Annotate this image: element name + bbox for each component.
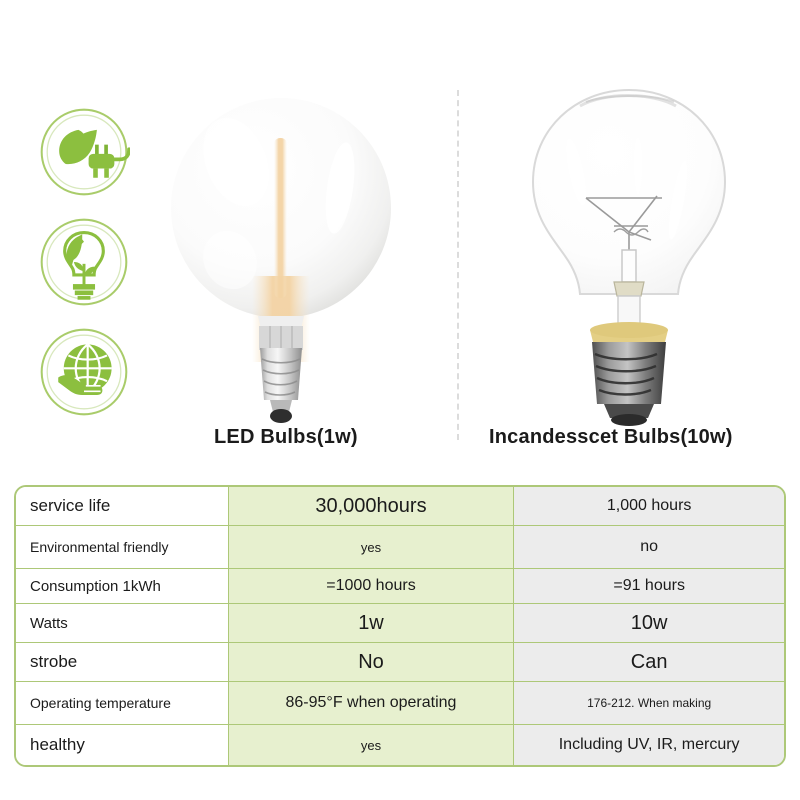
- globe-hand-icon: [38, 326, 130, 418]
- incandescent-value: =91 hours: [513, 569, 784, 604]
- led-value: No: [228, 643, 514, 682]
- bulb-divider: [457, 90, 459, 440]
- led-value: 86-95°F when operating: [228, 682, 514, 725]
- row-label: service life: [16, 487, 228, 526]
- eco-icon-list: [38, 106, 134, 436]
- led-value: yes: [228, 725, 514, 765]
- table-row: Consumption 1kWh =1000 hours =91 hours: [16, 569, 784, 604]
- bulb-plant-icon: [38, 216, 130, 308]
- incandescent-value: 176-212. When making: [513, 682, 784, 725]
- table-row: healthy yes Including UV, IR, mercury: [16, 725, 784, 765]
- row-label: Operating temperature: [16, 682, 228, 725]
- row-label: healthy: [16, 725, 228, 765]
- incandescent-value: Can: [513, 643, 784, 682]
- incandescent-value: 1,000 hours: [513, 487, 784, 526]
- row-label: Consumption 1kWh: [16, 569, 228, 604]
- table-row: service life 30,000hours 1,000 hours: [16, 487, 784, 526]
- led-bulb-caption: LED Bulbs(1w): [214, 426, 358, 449]
- bulb-comparison-images: [150, 70, 790, 430]
- incandescent-value: no: [513, 526, 784, 569]
- incandescent-bulb-caption: Incandesscet Bulbs(10w): [489, 426, 733, 449]
- leaf-plug-icon: [38, 106, 130, 198]
- incandescent-bulb-image: [518, 80, 740, 428]
- row-label: Watts: [16, 604, 228, 643]
- table-row: strobe No Can: [16, 643, 784, 682]
- led-value: yes: [228, 526, 514, 569]
- led-bulb-image: [170, 78, 392, 428]
- table-row: Watts 1w 10w: [16, 604, 784, 643]
- row-label: Environmental friendly: [16, 526, 228, 569]
- incandescent-value: 10w: [513, 604, 784, 643]
- incandescent-value: Including UV, IR, mercury: [513, 725, 784, 765]
- row-label: strobe: [16, 643, 228, 682]
- comparison-table: service life 30,000hours 1,000 hours Env…: [14, 485, 786, 767]
- led-value: 1w: [228, 604, 514, 643]
- led-value: =1000 hours: [228, 569, 514, 604]
- table-row: Environmental friendly yes no: [16, 526, 784, 569]
- led-value: 30,000hours: [228, 487, 514, 526]
- table-row: Operating temperature 86-95°F when opera…: [16, 682, 784, 725]
